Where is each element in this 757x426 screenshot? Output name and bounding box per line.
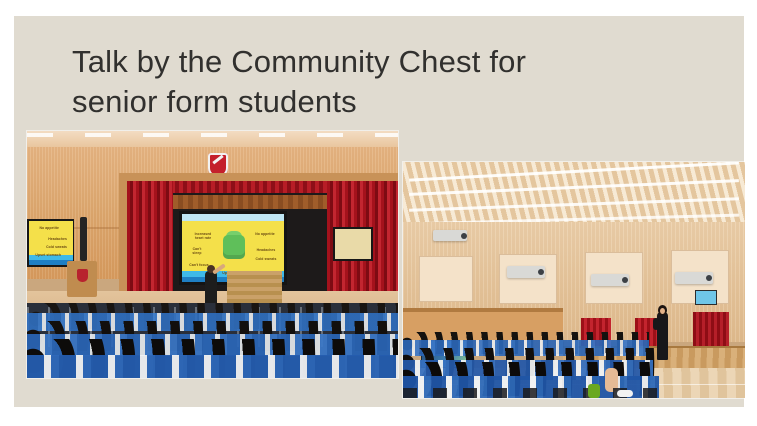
wall-bay-2 <box>499 254 557 304</box>
page-title: Talk by the Community Chest for senior f… <box>72 42 672 121</box>
screen-label-cold-sweats: Cold sweats <box>251 257 281 261</box>
balcony-edge <box>403 308 563 312</box>
screen-slide-header <box>182 214 284 221</box>
side-screen-label-upset-stomach: Upset stomach <box>27 253 61 257</box>
side-screen-label-headaches: Headaches <box>35 237 67 241</box>
projector-lens-3 <box>622 277 628 283</box>
stage-wood-band <box>173 195 327 209</box>
screen-label-cant-sleep: Can't sleep <box>185 247 209 256</box>
screen-label-increased-heart-rate: Increased heart rate <box>187 232 219 241</box>
left-photo: Increased heart rate No appetite Can't s… <box>27 131 398 378</box>
projector-lens-1 <box>461 233 467 239</box>
projector-lens-4 <box>706 275 712 281</box>
side-screen-label-no-appetite: No appetite <box>29 226 59 230</box>
second-side-screen <box>335 229 371 259</box>
presenter-face <box>660 308 665 314</box>
stage-curtain-left <box>127 181 173 303</box>
wall-display-screen-content <box>696 291 716 304</box>
right-photo <box>403 162 745 398</box>
screen-label-headaches: Headaches <box>251 248 281 252</box>
screen-label-no-appetite: No appetite <box>249 232 281 236</box>
green-backpack <box>588 384 600 398</box>
stage-stairs <box>227 271 282 303</box>
audience-row-uniforms-3 <box>27 355 398 378</box>
screen-character-body <box>223 235 245 259</box>
projector-lens-2 <box>538 269 544 275</box>
presentation-slide: Talk by the Community Chest for senior f… <box>0 0 757 426</box>
side-screen-label-cold-sweats: Cold sweats <box>35 245 67 249</box>
podium-crest-icon <box>77 269 88 282</box>
white-sneaker <box>617 390 633 397</box>
ceiling-light-strip <box>27 133 398 137</box>
presenter-body <box>205 271 217 305</box>
loudspeaker <box>80 217 87 261</box>
wall-bay-1 <box>419 256 473 302</box>
presenter-arm <box>653 318 659 330</box>
